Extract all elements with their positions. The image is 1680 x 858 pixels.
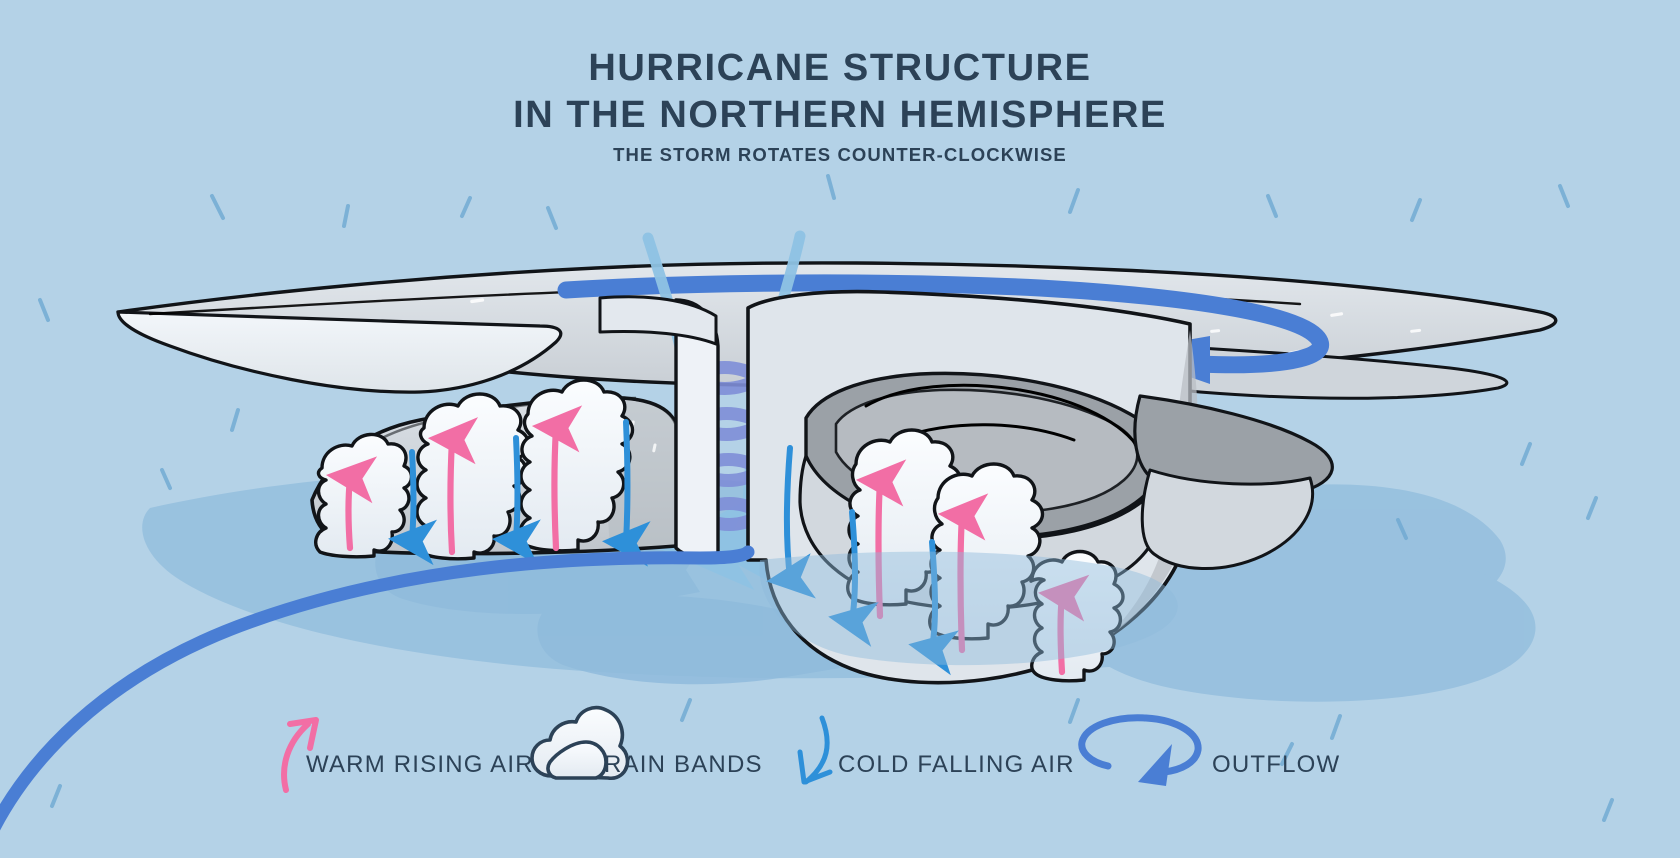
legend-label-warm-rising-air: WARM RISING AIR [306, 751, 534, 778]
legend-label-cold-falling-air: COLD FALLING AIR [838, 751, 1075, 778]
legend-label-rain-bands: RAIN BANDS [604, 751, 763, 778]
hurricane-cutaway-diagram: HURRICANE STRUCTURE IN THE NORTHERN HEMI… [0, 0, 1680, 858]
page-title-line2: IN THE NORTHERN HEMISPHERE [513, 94, 1167, 136]
page-title-line1: HURRICANE STRUCTURE [588, 47, 1091, 89]
hurricane-infographic: HURRICANE STRUCTURE IN THE NORTHERN HEMI… [0, 0, 1680, 858]
page-subtitle: THE STORM ROTATES COUNTER-CLOCKWISE [613, 144, 1067, 165]
legend-label-outflow: OUTFLOW [1212, 751, 1340, 778]
